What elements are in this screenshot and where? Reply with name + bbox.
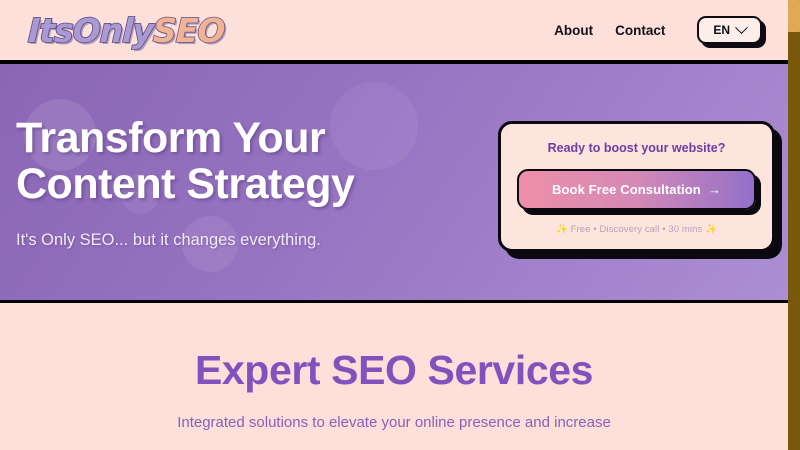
services-subtitle: Integrated solutions to elevate your onl… [0, 414, 788, 431]
arrow-right-icon: → [708, 182, 721, 197]
scrollbar-thumb[interactable] [788, 0, 800, 32]
site-logo[interactable]: ItsOnlySEO [27, 14, 225, 47]
chevron-down-icon [735, 21, 748, 34]
services-section: Expert SEO Services Integrated solutions… [0, 303, 788, 431]
hero-section: Transform Your Content Strategy It's Onl… [0, 60, 788, 303]
hero-title-line-1: Transform Your [16, 114, 325, 162]
logo-text-accent: SEO [152, 11, 225, 50]
nav-link-contact[interactable]: Contact [615, 23, 665, 38]
cta-heading: Ready to boost your website? [517, 141, 756, 155]
hero-subtitle: It's Only SEO... but it changes everythi… [16, 231, 354, 250]
nav-link-about[interactable]: About [554, 23, 593, 38]
language-selector-value: EN [713, 24, 730, 36]
services-title: Expert SEO Services [0, 349, 788, 392]
page-scrollbar[interactable] [788, 0, 800, 450]
book-consultation-button[interactable]: Book Free Consultation→ [517, 169, 756, 210]
hero-title-line-2: Content Strategy [16, 160, 354, 208]
language-selector-button[interactable]: EN [697, 16, 762, 44]
logo-text-primary: ItsOnly [27, 11, 153, 50]
cta-card: Ready to boost your website? Book Free C… [498, 121, 775, 252]
main-navigation: About Contact EN [554, 16, 762, 44]
hero-copy: Transform Your Content Strategy It's Onl… [0, 115, 354, 250]
hero-title: Transform Your Content Strategy [16, 115, 354, 207]
site-header: ItsOnlySEO About Contact EN [0, 0, 788, 60]
book-consultation-label: Book Free Consultation [552, 182, 701, 197]
page-root: ItsOnlySEO About Contact EN Transform Yo… [0, 0, 788, 450]
sparkle-icon: ✨ [705, 224, 717, 235]
cta-note: ✨ Free • Discovery call • 30 mins ✨ [517, 224, 756, 235]
cta-note-text: Free • Discovery call • 30 mins [568, 224, 705, 235]
sparkle-icon: ✨ [556, 224, 568, 235]
